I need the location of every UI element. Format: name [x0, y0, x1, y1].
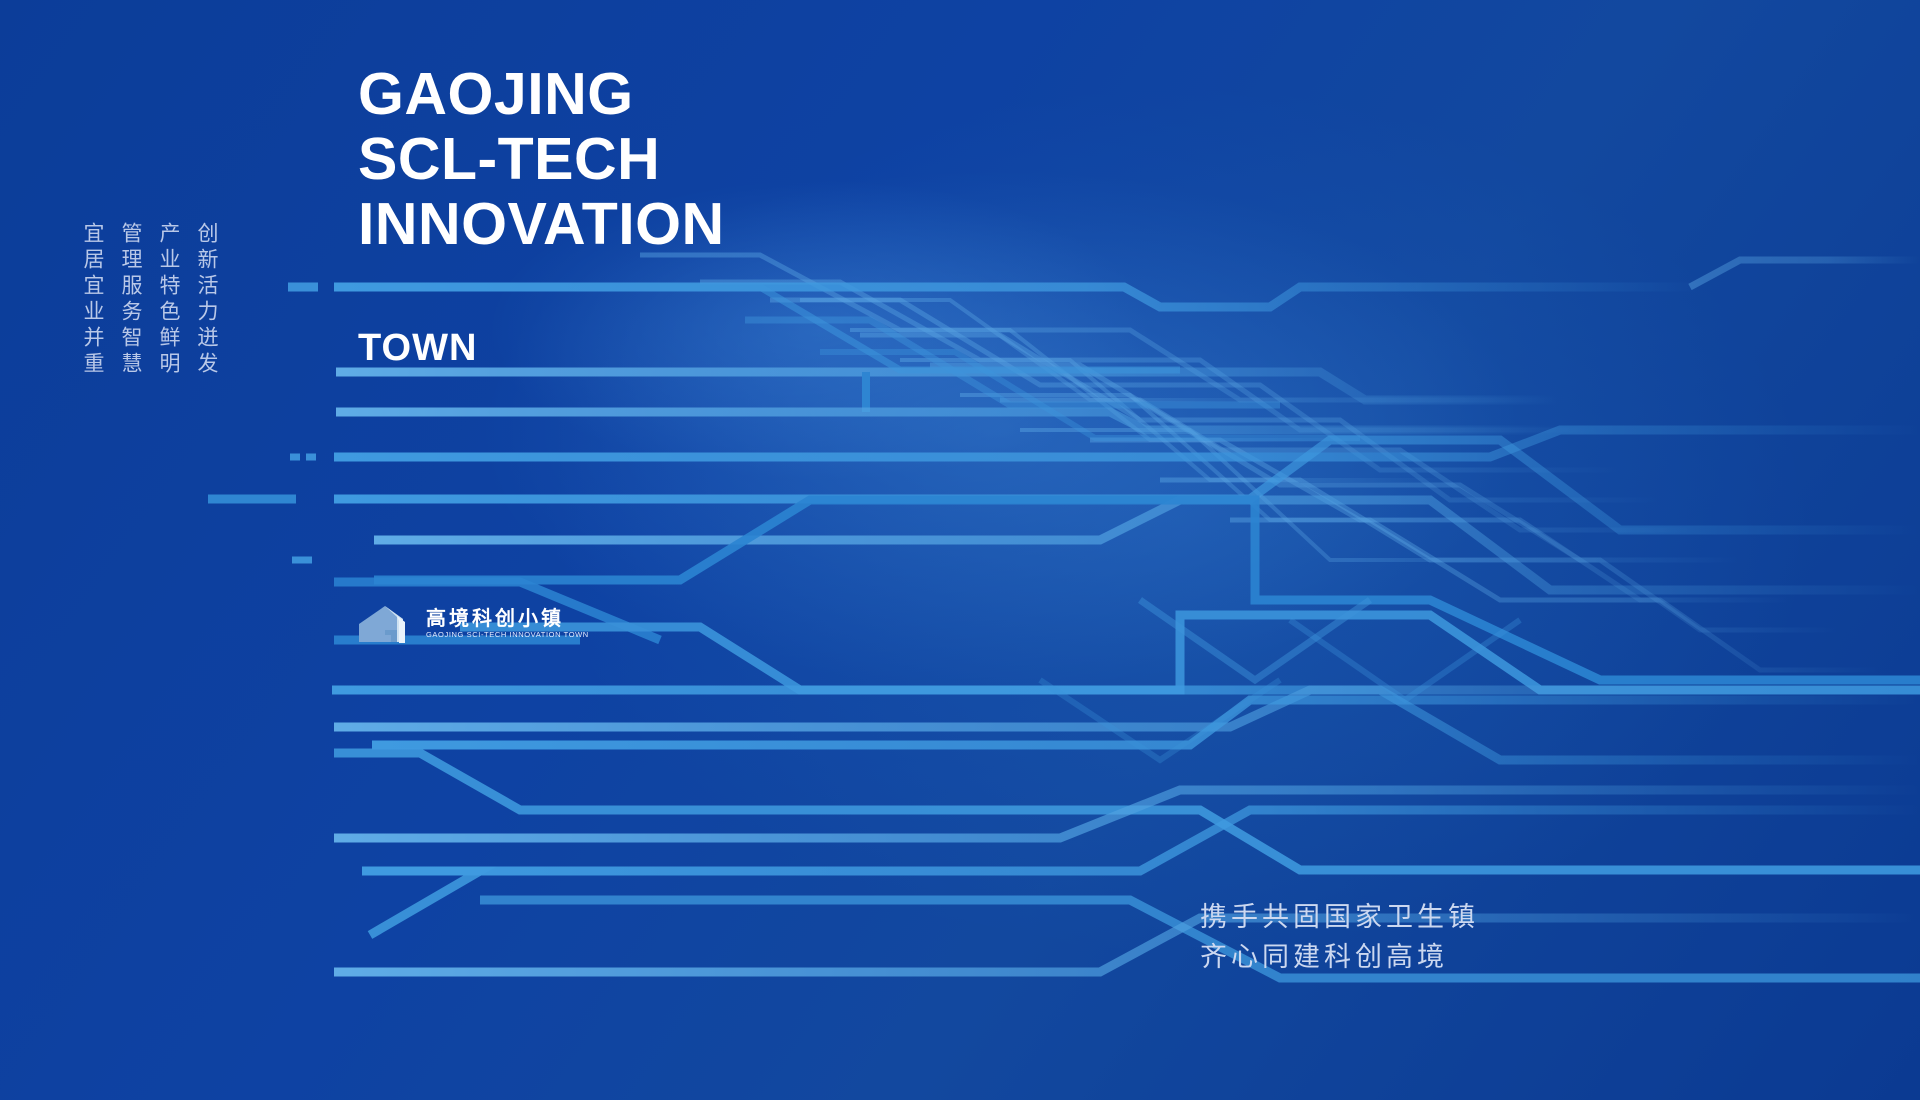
logo-text-group: 高境科创小镇 GAOJING SCI-TECH INNOVATION TOWN — [426, 607, 589, 640]
vertical-slogan-col-4: 宜居宜业并重 — [80, 222, 106, 378]
house-logo-icon — [355, 602, 417, 644]
logo-chinese-name: 高境科创小镇 — [426, 607, 589, 629]
bottom-slogan: 携手共固国家卫生镇 齐心同建科创高境 — [1200, 898, 1479, 978]
bottom-slogan-line-1: 携手共固国家卫生镇 — [1200, 898, 1479, 938]
page-title: GAOJING SCL-TECH INNOVATION — [358, 62, 725, 257]
vertical-slogan: 创新活力迸发 产业特色鲜明 管理服务智慧 宜居宜业并重 — [80, 222, 220, 378]
title-town-word: TOWN — [358, 327, 477, 370]
poster-canvas: GAOJING SCL-TECH INNOVATION TOWN 创新活力迸发 … — [0, 0, 1920, 1100]
logo-english-name: GAOJING SCI-TECH INNOVATION TOWN — [426, 630, 589, 640]
title-line-3: INNOVATION — [358, 192, 725, 257]
title-line-2: SCL-TECH — [358, 127, 725, 192]
circuit-line-artwork — [0, 0, 1920, 1100]
title-line-1: GAOJING — [358, 62, 725, 127]
logo-lockup: 高境科创小镇 GAOJING SCI-TECH INNOVATION TOWN — [355, 602, 589, 644]
vertical-slogan-col-2: 产业特色鲜明 — [156, 222, 182, 378]
bottom-slogan-line-2: 齐心同建科创高境 — [1200, 938, 1479, 978]
vertical-slogan-col-1: 创新活力迸发 — [194, 222, 220, 378]
vertical-slogan-col-3: 管理服务智慧 — [118, 222, 144, 378]
